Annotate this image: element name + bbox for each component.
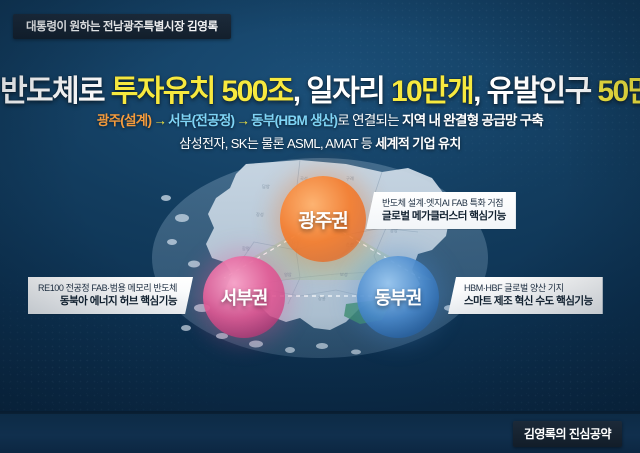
- callout-dongbu-line1: HBM·HBF 글로벌 양산 기지: [464, 282, 593, 294]
- callout-dongbu-line2: 스마트 제조 혁신 수도 핵심기능: [464, 294, 593, 308]
- svg-text:담양: 담양: [262, 183, 270, 189]
- region-label-seobu: 서부권: [221, 284, 268, 310]
- subtitle-region-dongbu: 동부(HBM 생산): [251, 113, 337, 128]
- callout-gwangju-line1: 반도체 설계·엣지AI FAB 특화 거점: [382, 197, 506, 209]
- footer-badge: 김영록의 진심공약: [513, 421, 622, 447]
- subtitle-companies-bold: 세계적 기업 유치: [375, 136, 461, 151]
- region-bubble-seobu[interactable]: 서부권: [203, 256, 285, 338]
- callout-seobu-line1: RE100 전공정 FAB·범용 메모리 반도체: [38, 282, 177, 294]
- callout-seobu-line2: 동북아 에너지 허브 핵심기능: [38, 294, 177, 308]
- headline-segment-3: , 일자리: [293, 75, 391, 108]
- callout-seobu: RE100 전공정 FAB·범용 메모리 반도체 동북아 에너지 허브 핵심기능: [28, 277, 193, 314]
- subtitle-emphasis: 지역 내 완결형 공급망 구축: [402, 113, 543, 128]
- callout-dongbu: HBM·HBF 글로벌 양산 기지 스마트 제조 혁신 수도 핵심기능: [448, 277, 603, 314]
- svg-text:장흥: 장흥: [318, 295, 326, 301]
- headline-highlight-population: 50만명: [597, 75, 640, 108]
- headline-segment-5: , 유발인구: [473, 75, 597, 108]
- arrow-icon-2: →: [234, 113, 251, 128]
- page-title: 반도체로 투자유치 500조, 일자리 10만개, 유발인구 50만명: [0, 66, 640, 110]
- headline-highlight-investment: 투자유치 500조: [111, 75, 293, 108]
- region-bubble-gwangju[interactable]: 광주권: [280, 176, 366, 262]
- region-label-dongbu: 동부권: [375, 284, 422, 310]
- svg-text:함평: 함평: [242, 245, 250, 251]
- svg-text:구례: 구례: [346, 175, 354, 182]
- subtitle-connector: 로 연결되는: [337, 113, 402, 128]
- svg-text:영암: 영암: [284, 271, 292, 277]
- subtitle-region-gwangju: 광주(설계): [97, 113, 151, 128]
- poster-root: 대통령이 원하는 전남광주특별시장 김영록 반도체로 투자유치 500조, 일자…: [0, 0, 640, 453]
- svg-text:보성: 보성: [340, 271, 348, 277]
- subtitle-companies-normal: 삼성전자, SK는 물론 ASML, AMAT 등: [179, 136, 375, 151]
- subtitle-region-seobu: 서부(전공정): [168, 113, 234, 128]
- headline-segment-1: 반도체로: [0, 75, 111, 108]
- headline-highlight-jobs: 10만개: [391, 75, 473, 108]
- subtitle-companies: 삼성전자, SK는 물론 ASML, AMAT 등 세계적 기업 유치: [0, 133, 640, 152]
- subtitle-supply-chain: 광주(설계)→서부(전공정)→동부(HBM 생산)로 연결되는 지역 내 완결형…: [0, 109, 640, 129]
- callout-gwangju: 반도체 설계·엣지AI FAB 특화 거점 글로벌 메가클러스터 핵심기능: [366, 192, 516, 229]
- header-badge: 대통령이 원하는 전남광주특별시장 김영록: [13, 14, 231, 39]
- region-label-gwangju: 광주권: [298, 206, 347, 233]
- callout-gwangju-line2: 글로벌 메가클러스터 핵심기능: [382, 209, 506, 223]
- region-bubble-dongbu[interactable]: 동부권: [357, 256, 439, 338]
- svg-text:장성: 장성: [256, 211, 264, 217]
- arrow-icon-1: →: [151, 113, 168, 128]
